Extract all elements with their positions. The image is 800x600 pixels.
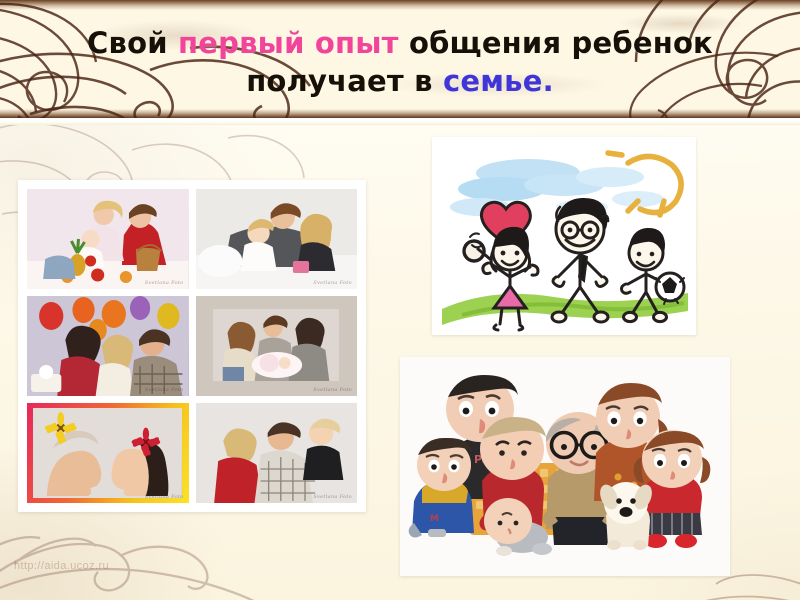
photo-6-signature: Svetlana Foto <box>313 494 352 500</box>
title-line-1: Свой первый опыт общения ребенок <box>0 24 800 62</box>
title-text-part-1: Свой <box>87 26 178 60</box>
clay-family-figurines: PaPa <box>400 357 730 576</box>
figurines-scene: PaPa <box>400 357 730 576</box>
doodle-scene <box>432 137 696 335</box>
watermark-url: http://aida.ucoz.ru <box>14 560 109 572</box>
photo-4-scene <box>213 309 339 381</box>
title-highlight-pink: первый опыт <box>178 26 399 60</box>
photo-5-signature: Svetlana Foto <box>145 494 184 500</box>
title-text-part-3: получает в <box>246 64 443 98</box>
collage-photo-2: Svetlana Foto <box>196 189 358 289</box>
photo-1-signature: Svetlana Foto <box>145 280 184 286</box>
photo-2-signature: Svetlana Foto <box>313 280 352 286</box>
collage-photo-6: Svetlana Foto <box>196 403 358 503</box>
photo-6-scene <box>196 403 358 503</box>
title-highlight-blue: семье. <box>443 64 554 98</box>
photo-4-inner-frame <box>213 309 339 381</box>
title-text-part-2: общения ребенок <box>399 26 713 60</box>
photo-3-signature: Svetlana Foto <box>145 387 184 393</box>
photo-3-scene <box>27 296 189 396</box>
family-photo-collage: Svetlana Foto <box>18 180 366 512</box>
header-divider-rule <box>0 118 800 125</box>
slide-canvas: Свой первый опыт общения ребенок получае… <box>0 0 800 600</box>
collage-photo-4: Svetlana Foto <box>196 296 358 396</box>
photo-2-scene <box>196 189 358 289</box>
title-line-2: получает в семье. <box>0 62 800 100</box>
photo-5-inner-frame <box>33 408 182 498</box>
child-family-drawing <box>432 137 696 335</box>
collage-photo-5: Svetlana Foto <box>27 403 189 503</box>
photo-1-scene <box>27 189 189 289</box>
photo-5-scene <box>33 408 182 498</box>
svg-text:M: M <box>430 514 439 524</box>
page-title: Свой первый опыт общения ребенок получае… <box>0 24 800 100</box>
photo-4-signature: Svetlana Foto <box>313 387 352 393</box>
collage-photo-1: Svetlana Foto <box>27 189 189 289</box>
collage-photo-3: Svetlana Foto <box>27 296 189 396</box>
